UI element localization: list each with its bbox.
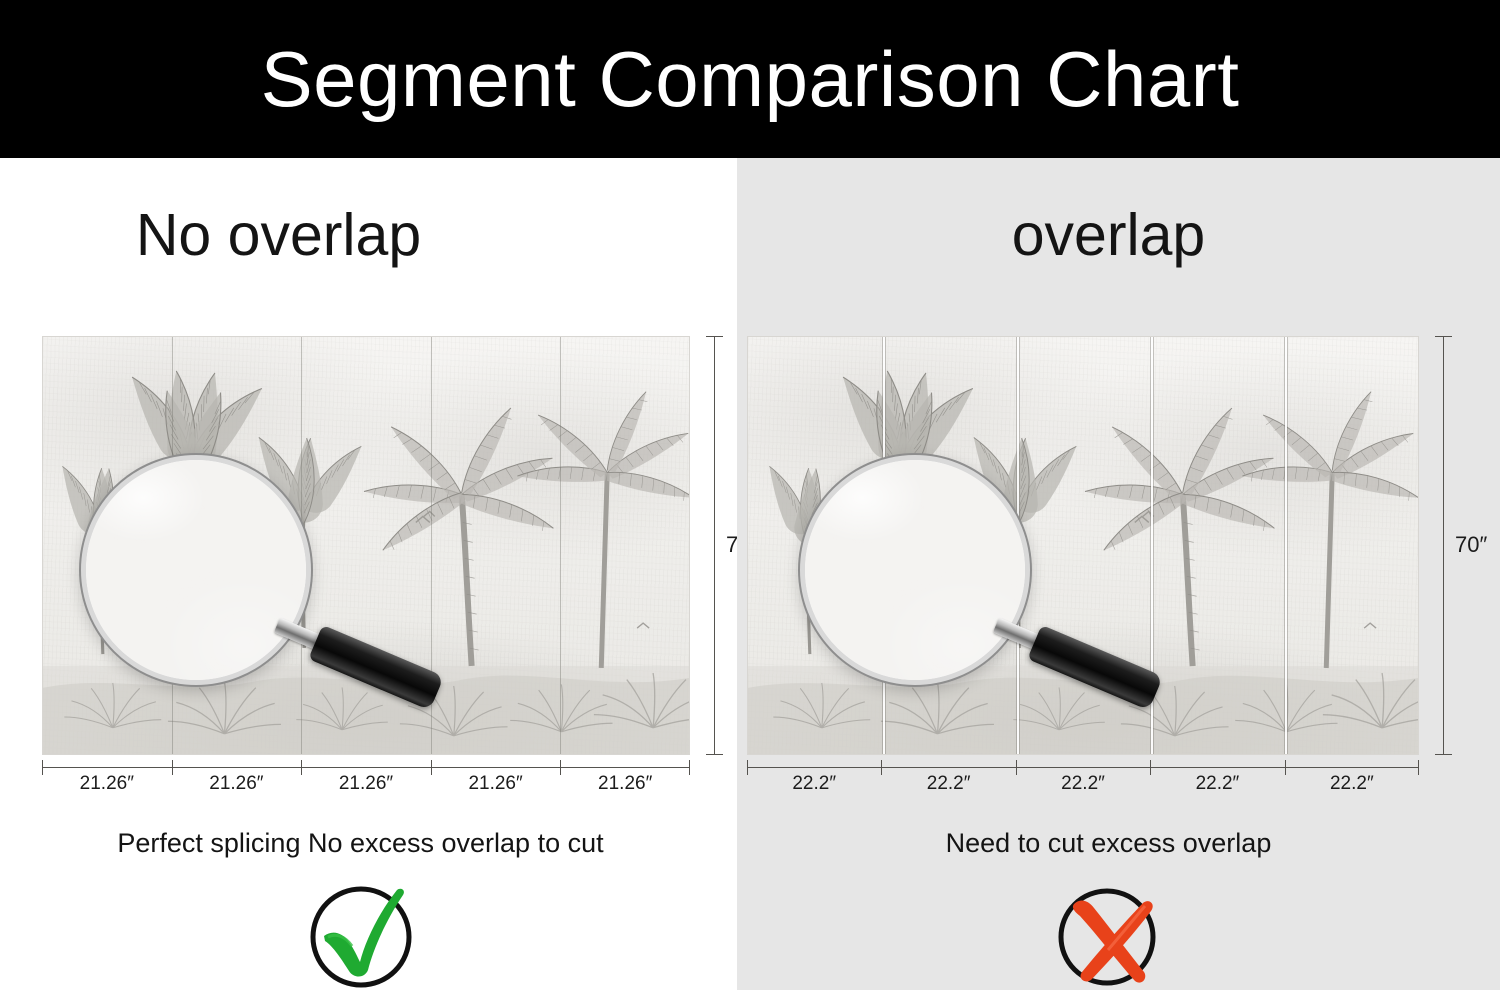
mural-image-overlap bbox=[747, 336, 1419, 755]
segment-width-label: 21.26″ bbox=[431, 773, 561, 795]
segment-width-label: 21.26″ bbox=[301, 773, 431, 795]
panel-heading-no-overlap: No overlap bbox=[0, 206, 647, 265]
segment-width-label: 22.2″ bbox=[1150, 773, 1284, 795]
overlap-seam-line bbox=[882, 337, 886, 754]
page-title: Segment Comparison Chart bbox=[261, 40, 1240, 118]
overlap-seam-line bbox=[1284, 337, 1288, 754]
segment-width-label: 21.26″ bbox=[172, 773, 302, 795]
width-dimension-line-overlap: 22.2″ 22.2″ 22.2″ 22.2″ 22.2″ bbox=[747, 759, 1419, 805]
mural-image-no-overlap bbox=[42, 336, 690, 755]
figure-overlap: 70″ 22.2″ 22.2″ 22.2″ 22.2″ 22.2″ bbox=[747, 336, 1419, 805]
segment-width-label: 22.2″ bbox=[747, 773, 881, 795]
seam-line bbox=[560, 337, 561, 754]
seam-lines-overlap bbox=[748, 337, 1418, 754]
overlap-seam-line bbox=[1150, 337, 1154, 754]
seam-line bbox=[301, 337, 302, 754]
overlap-seam-line bbox=[1016, 337, 1020, 754]
width-dimension-line-no-overlap: 21.26″ 21.26″ 21.26″ 21.26″ 21.26″ bbox=[42, 759, 690, 805]
segment-width-label: 21.26″ bbox=[560, 773, 690, 795]
comparison-panels: No overlap bbox=[0, 158, 1500, 990]
height-label-overlap: 70″ bbox=[1455, 532, 1487, 558]
caption-no-overlap: Perfect splicing No excess overlap to cu… bbox=[0, 828, 729, 859]
height-dimension-line-overlap bbox=[1433, 336, 1455, 755]
verdict-overlap bbox=[727, 876, 1490, 990]
panel-heading-overlap: overlap bbox=[727, 206, 1490, 265]
segment-width-label: 22.2″ bbox=[1016, 773, 1150, 795]
seam-lines-no-overlap bbox=[43, 337, 689, 754]
segment-width-label: 22.2″ bbox=[881, 773, 1015, 795]
check-circle-icon bbox=[302, 876, 420, 990]
segment-width-label: 21.26″ bbox=[42, 773, 172, 795]
caption-overlap: Need to cut excess overlap bbox=[727, 828, 1490, 859]
height-dimension-line-no-overlap bbox=[704, 336, 726, 755]
seam-line bbox=[431, 337, 432, 754]
verdict-no-overlap bbox=[0, 876, 729, 990]
segment-comparison-page: Segment Comparison Chart No overlap bbox=[0, 0, 1500, 990]
panel-no-overlap: No overlap bbox=[0, 158, 737, 990]
title-banner: Segment Comparison Chart bbox=[0, 0, 1500, 158]
seam-line bbox=[172, 337, 173, 754]
segment-width-label: 22.2″ bbox=[1285, 773, 1419, 795]
panel-overlap: overlap bbox=[737, 158, 1500, 990]
figure-no-overlap: 70″ 21.26″ 21.26″ 21.26″ 21.26″ 2 bbox=[42, 336, 690, 805]
cross-circle-icon bbox=[1050, 876, 1168, 990]
